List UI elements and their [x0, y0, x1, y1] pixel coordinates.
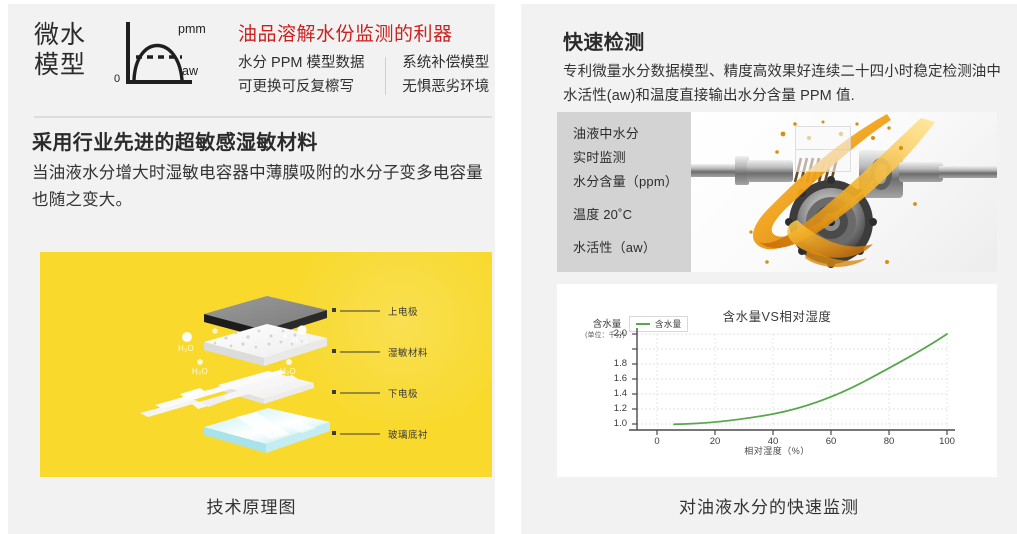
- layer-sensitive-material: [204, 324, 327, 366]
- left-section-title: 采用行业先进的超敏感湿敏材料: [32, 128, 318, 158]
- h2o-label-4: H₂O: [280, 367, 296, 376]
- left-panel-caption: 技术原理图: [8, 493, 495, 518]
- spec-item-5: 水活性（aw）: [573, 236, 703, 260]
- feature-item-2: 系统补偿模型: [402, 53, 494, 74]
- brand-line-1: 微水: [34, 20, 106, 50]
- icon-label-aw: aw: [182, 64, 198, 78]
- h2o-label-1: H₂O: [178, 344, 194, 353]
- right-section-title: 快速检测: [563, 28, 645, 58]
- page-root: 微水 模型 pmm aw 0 油品溶解水份监测的利器 水分 PPM 模型数据: [0, 0, 1017, 534]
- callout-label-1: 上电极: [388, 304, 418, 318]
- spec-list-box: 油液中水分 实时监测 水分含量（ppm） 温度 20˚C 水活性（aw）: [557, 112, 691, 272]
- spec-item-4: 温度 20˚C: [573, 203, 703, 227]
- technical-principle-figure: 上电极 湿敏材料 下电极 玻璃底衬 H₂O H₂O H₂O H₂O: [40, 252, 492, 477]
- feature-grid: 水分 PPM 模型数据 系统补偿模型 可更换可反复檫写 无惧恶劣环境: [238, 53, 494, 98]
- left-panel: 微水 模型 pmm aw 0 油品溶解水份监测的利器 水分 PPM 模型数据: [8, 4, 495, 534]
- chart-ytick-2-0: 2.0: [597, 328, 627, 339]
- left-panel-header: 微水 模型 pmm aw 0 油品溶解水份监测的利器 水分 PPM 模型数据: [34, 18, 494, 104]
- feature-item-4: 无惧恶劣环境: [402, 77, 494, 98]
- h2o-label-3: H₂O: [192, 367, 208, 376]
- chart-ytick-1-0: 1.0: [597, 418, 627, 429]
- spec-item-2: 实时监测: [573, 146, 703, 170]
- chart-ytick-1-8: 1.8: [597, 358, 627, 369]
- chart-ytick-1-6: 1.6: [597, 373, 627, 384]
- callout-label-2: 湿敏材料: [388, 345, 428, 359]
- chart-x-ticks: [657, 430, 947, 435]
- icon-label-origin: 0: [114, 73, 120, 85]
- moisture-vs-humidity-chart: 含水量VS相对湿度 含水量 (单位：千分) 含水量: [557, 284, 997, 477]
- callout-bullets: [332, 308, 336, 435]
- chart-y-ticks: [632, 334, 637, 424]
- spec-item-3: 水分含量（ppm）: [573, 170, 703, 194]
- h2o-label-2: H₂O: [292, 336, 308, 345]
- spec-list: 油液中水分 实时监测 水分含量（ppm） 温度 20˚C 水活性（aw）: [573, 122, 703, 260]
- headline-block: 油品溶解水份监测的利器 水分 PPM 模型数据 系统补偿模型 可更换可反复檫写 …: [224, 18, 494, 98]
- feature-divider: [385, 57, 386, 95]
- headline: 油品溶解水份监测的利器: [238, 22, 494, 48]
- left-section-body: 当油液水分增大时湿敏电容器中薄膜吸附的水分子变多电容量也随之变大。: [32, 160, 484, 214]
- chart-gridlines-vertical: [657, 334, 947, 427]
- ghost-overlay-rect: [795, 126, 851, 172]
- spec-item-1: 油液中水分: [573, 122, 703, 146]
- callout-label-4: 玻璃底衬: [388, 427, 428, 441]
- right-panel: 快速检测 专利微量水分数据模型、精度高效果好连续二十四小时稳定检测油中水活性(a…: [521, 4, 1017, 534]
- right-panel-caption: 对油液水分的快速监测: [521, 493, 1017, 518]
- chart-xlabel: 相对湿度（%）: [557, 444, 997, 457]
- layer-bottom-electrode: [140, 370, 314, 417]
- feature-item-1: 水分 PPM 模型数据: [238, 53, 369, 74]
- chart-ytick-1-4: 1.4: [597, 388, 627, 399]
- brand-wordmark: 微水 模型: [34, 18, 106, 80]
- brand-line-2: 模型: [34, 50, 106, 80]
- feature-item-3: 可更换可反复檫写: [238, 77, 369, 98]
- right-section-body: 专利微量水分数据模型、精度高效果好连续二十四小时稳定检测油中水活性(aw)和温度…: [563, 60, 1003, 108]
- icon-label-pmm: pmm: [178, 22, 206, 36]
- bell-curve-icon: pmm aw 0: [112, 18, 224, 96]
- horizontal-divider: [34, 116, 492, 118]
- chart-ytick-1-2: 1.2: [597, 403, 627, 414]
- spec-and-photo-row: 油液中水分 实时监测 水分含量（ppm） 温度 20˚C 水活性（aw）: [557, 112, 997, 272]
- callout-leaders: [340, 311, 380, 434]
- layer-glass-substrate: [204, 408, 330, 453]
- callout-label-3: 下电极: [388, 386, 418, 400]
- gear-bearing-with-oil-splash-photo: [691, 112, 997, 272]
- exploded-layers-svg: [40, 252, 492, 477]
